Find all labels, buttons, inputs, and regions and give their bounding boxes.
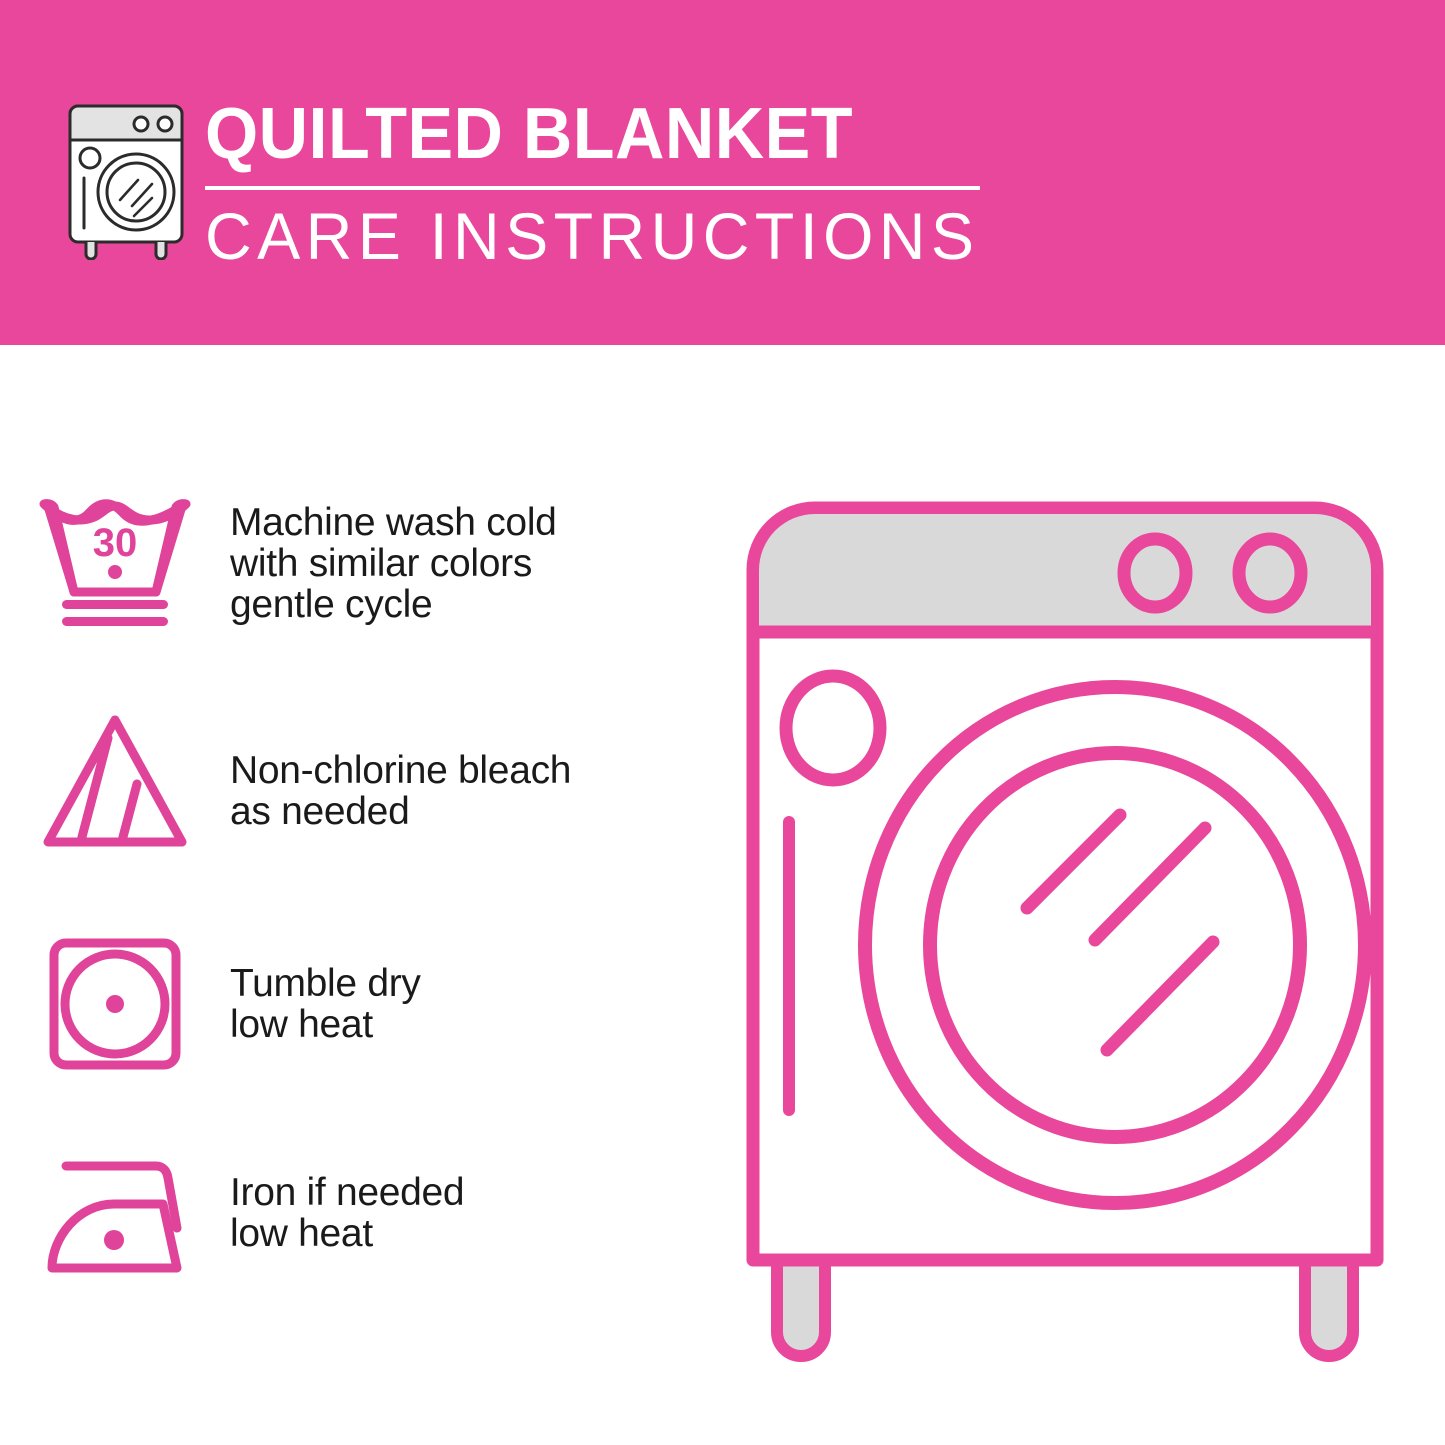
care-row-iron: Iron if needed low heat [0,1138,700,1292]
care-line: low heat [230,1213,700,1254]
page-title: QUILTED BLANKET [205,96,956,172]
care-row-tumble-dry: Tumble dry low heat [0,925,700,1079]
care-line: Machine wash cold [230,502,700,543]
care-line: gentle cycle [230,584,700,625]
machine-wash-30-gentle-icon: 30 [0,480,230,634]
header-title-group: QUILTED BLANKET CARE INSTRUCTIONS [205,96,995,272]
care-line: as needed [230,791,700,832]
care-text-machine-wash: Machine wash cold with similar colors ge… [230,480,700,625]
care-line: with similar colors [230,543,700,584]
page-subtitle: CARE INSTRUCTIONS [205,200,979,272]
care-row-bleach: Non-chlorine bleach as needed [0,702,700,856]
care-line: Tumble dry [230,963,700,1004]
care-text-tumble-dry: Tumble dry low heat [230,925,700,1045]
care-line: Iron if needed [230,1172,700,1213]
non-chlorine-bleach-icon [0,702,230,856]
tumble-dry-low-icon [0,925,230,1079]
front-load-washing-machine-illustration [715,470,1415,1370]
care-line: low heat [230,1004,700,1045]
washing-machine-icon [62,100,190,260]
care-line: Non-chlorine bleach [230,750,700,791]
care-instructions-page: QUILTED BLANKET CARE INSTRUCTIONS 30 [0,0,1445,1445]
header-banner: QUILTED BLANKET CARE INSTRUCTIONS [0,0,1445,345]
wash-temperature-label: 30 [93,521,138,565]
title-divider [205,186,980,190]
care-text-bleach: Non-chlorine bleach as needed [230,702,700,832]
care-instruction-list: 30 Machine wash cold with similar colors… [0,470,700,1330]
iron-low-heat-icon [0,1138,230,1292]
care-row-machine-wash: 30 Machine wash cold with similar colors… [0,480,700,634]
care-text-iron: Iron if needed low heat [230,1138,700,1254]
